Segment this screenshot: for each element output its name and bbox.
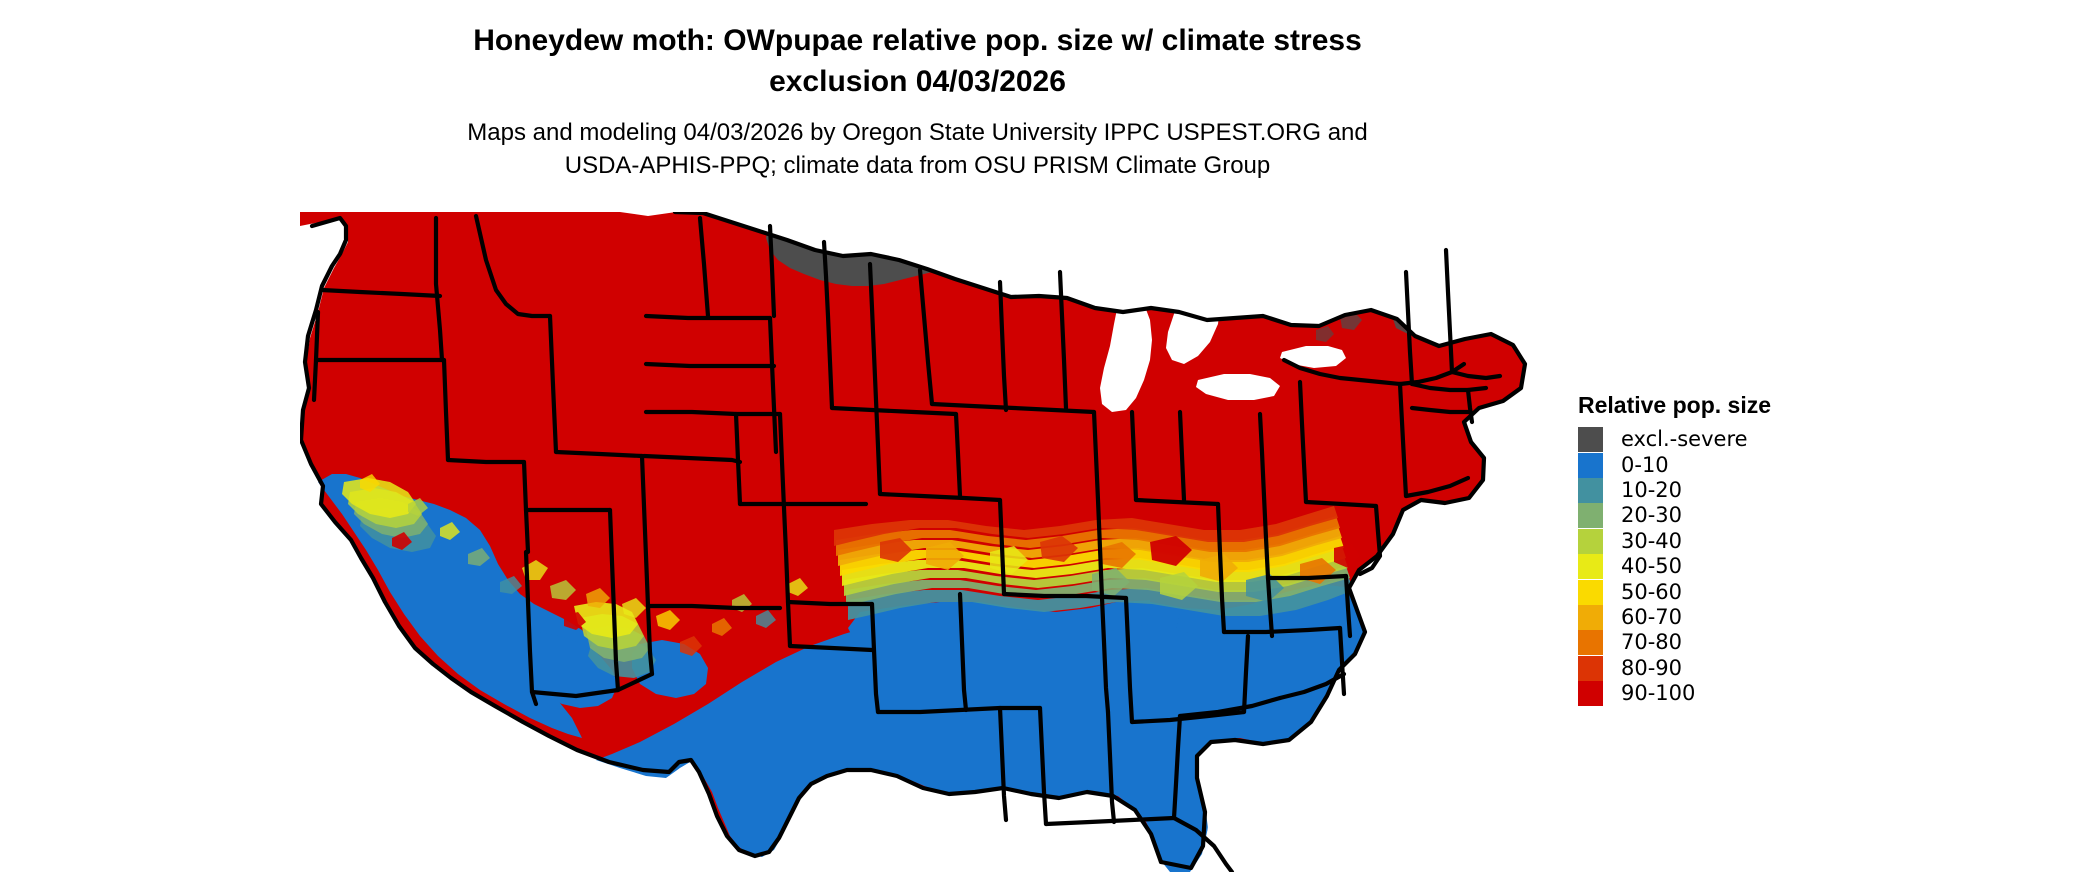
legend-item: 10-20	[1578, 478, 1898, 503]
legend-items: excl.-severe0-1010-2020-3030-4040-5050-6…	[1578, 427, 1898, 706]
page-title: Honeydew moth: OWpupae relative pop. siz…	[0, 20, 1835, 102]
legend-item-label: 90-100	[1621, 681, 1695, 706]
legend-item: 70-80	[1578, 630, 1898, 655]
legend-item-label: 40-50	[1621, 554, 1682, 579]
legend-item-label: 0-10	[1621, 453, 1669, 478]
legend-color-swatch	[1578, 478, 1603, 503]
legend-item-label: 20-30	[1621, 503, 1682, 528]
us-map-svg[interactable]	[300, 212, 1550, 872]
legend-color-swatch	[1578, 630, 1603, 655]
legend-color-swatch	[1578, 529, 1603, 554]
us-map[interactable]	[300, 212, 1550, 872]
legend-item: 80-90	[1578, 656, 1898, 681]
legend-item-label: 10-20	[1621, 478, 1682, 503]
legend-color-swatch	[1578, 554, 1603, 579]
legend-color-swatch	[1578, 605, 1603, 630]
legend-item: 60-70	[1578, 605, 1898, 630]
legend-item-label: excl.-severe	[1621, 427, 1748, 452]
legend-color-swatch	[1578, 580, 1603, 605]
legend-color-swatch	[1578, 681, 1603, 706]
climate-map-figure: Honeydew moth: OWpupae relative pop. siz…	[0, 0, 2100, 892]
legend-item: 40-50	[1578, 554, 1898, 579]
legend-color-swatch	[1578, 503, 1603, 528]
legend-item: excl.-severe	[1578, 427, 1898, 452]
legend-item-label: 80-90	[1621, 656, 1682, 681]
legend-color-swatch	[1578, 427, 1603, 452]
legend-item: 0-10	[1578, 452, 1898, 477]
legend-item-label: 60-70	[1621, 605, 1682, 630]
legend-item-label: 50-60	[1621, 580, 1682, 605]
legend-item-label: 30-40	[1621, 529, 1682, 554]
legend: Relative pop. size excl.-severe0-1010-20…	[1578, 392, 1898, 706]
title-block: Honeydew moth: OWpupae relative pop. siz…	[0, 20, 1835, 182]
legend-item: 90-100	[1578, 681, 1898, 706]
legend-color-swatch	[1578, 656, 1603, 681]
legend-item: 50-60	[1578, 579, 1898, 604]
legend-item: 30-40	[1578, 529, 1898, 554]
map-subtitle: Maps and modeling 04/03/2026 by Oregon S…	[0, 116, 1835, 182]
legend-color-swatch	[1578, 453, 1603, 478]
legend-item-label: 70-80	[1621, 630, 1682, 655]
legend-title: Relative pop. size	[1578, 392, 1898, 419]
legend-item: 20-30	[1578, 503, 1898, 528]
raster-layer	[300, 212, 1526, 872]
